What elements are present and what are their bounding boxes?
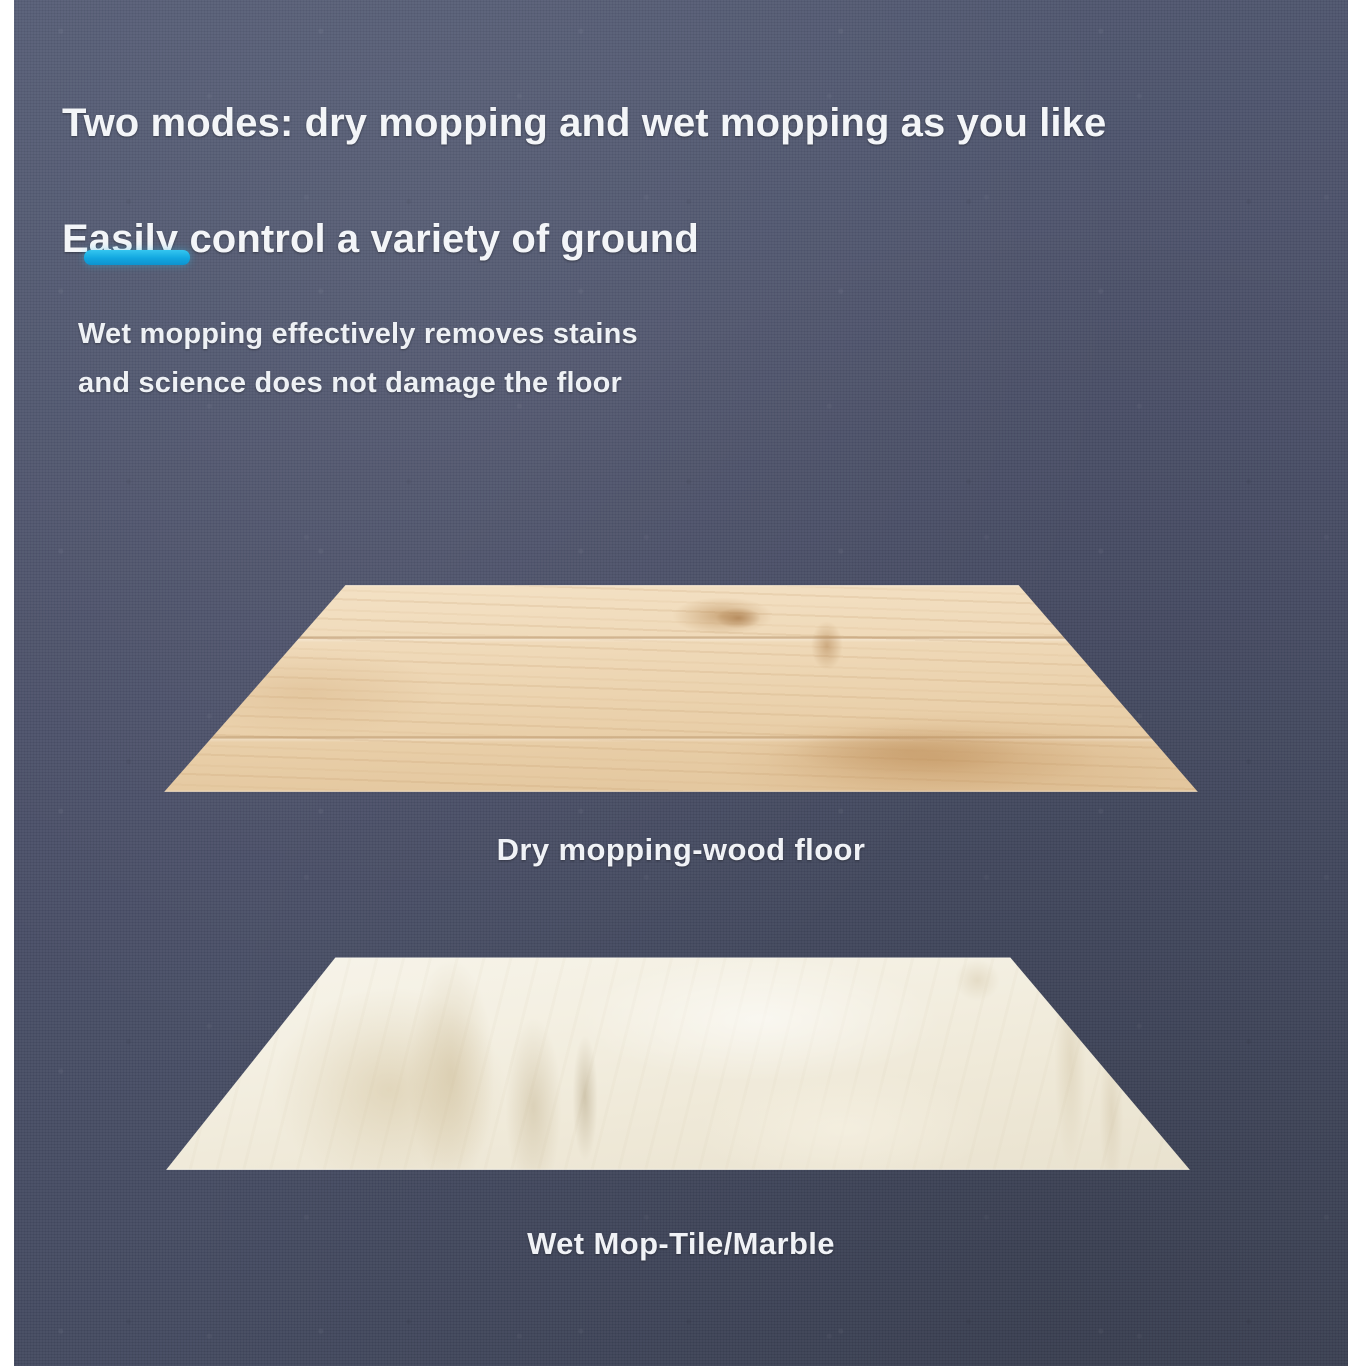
product-infographic: Two modes: dry mopping and wet mopping a… — [0, 0, 1366, 1366]
headline: Two modes: dry mopping and wet mopping a… — [62, 36, 1302, 326]
right-white-border — [1348, 0, 1366, 1366]
headline-line-1: Two modes: dry mopping and wet mopping a… — [62, 94, 1302, 152]
left-white-border — [0, 0, 14, 1366]
headline-line-2: Easily control a variety of ground — [62, 210, 1302, 268]
marble-tile-caption: Wet Mop-Tile/Marble — [14, 1226, 1348, 1262]
sub-copy: Wet mopping effectively removes stains a… — [78, 310, 938, 407]
wood-floor-caption: Dry mopping-wood floor — [14, 832, 1348, 868]
sub-copy-line-1: Wet mopping effectively removes stains — [78, 310, 938, 359]
sub-copy-line-2: and science does not damage the floor — [78, 359, 938, 408]
accent-rule-divider — [84, 250, 190, 265]
